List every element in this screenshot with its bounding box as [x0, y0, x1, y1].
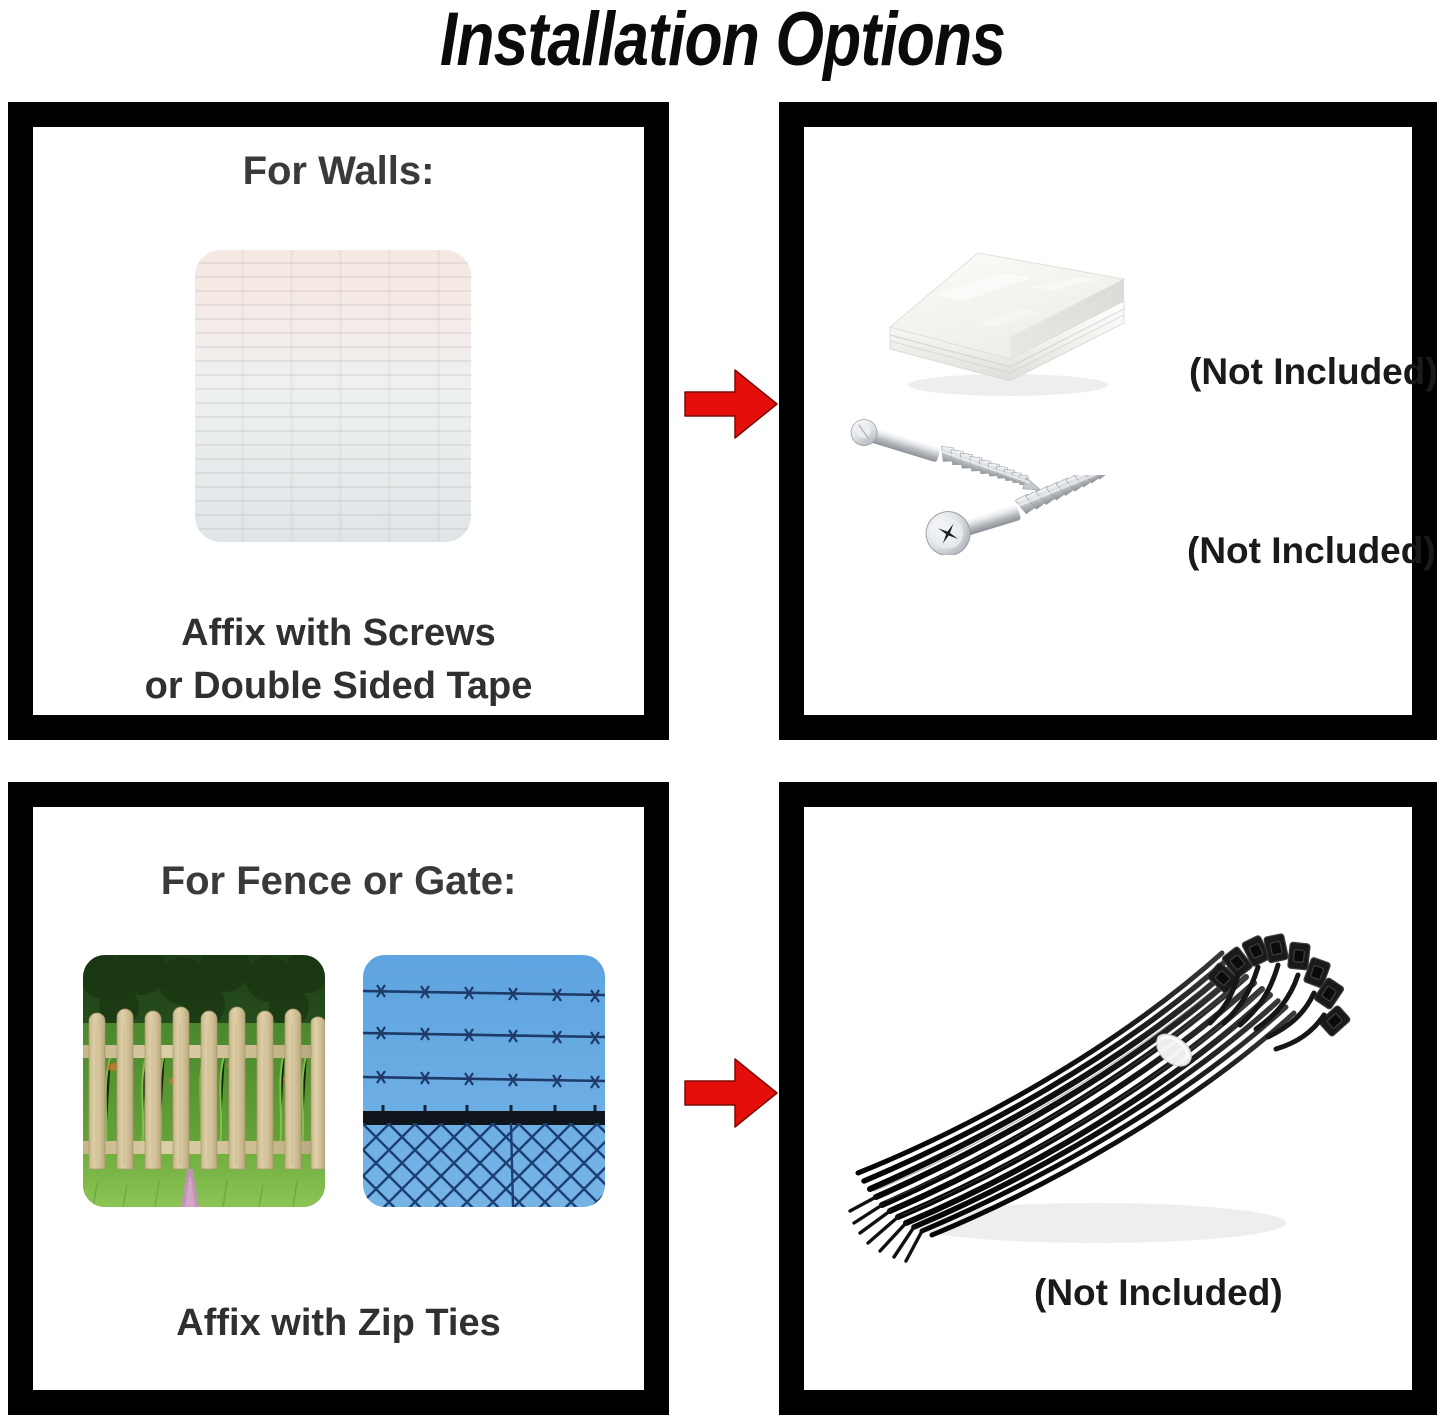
- wall-brick-joints: [195, 250, 471, 542]
- double-sided-tape-stack: [882, 235, 1132, 399]
- wood-screw-lower: [916, 475, 1132, 555]
- for-fence-or-gate-heading: For Fence or Gate:: [33, 859, 644, 904]
- walls-caption-line-1: Affix with Screws: [33, 612, 644, 655]
- red-arrow-right-icon: [683, 1057, 779, 1129]
- zipties-not-included-label: (Not Included): [1034, 1272, 1283, 1314]
- panel-for-fence-or-gate: For Fence or Gate:: [8, 782, 669, 1415]
- tape-not-included-label: (Not Included): [1189, 351, 1438, 393]
- walls-caption-line-2: or Double Sided Tape: [33, 665, 644, 708]
- chain-link-barbed-wire-fence-photo: [363, 955, 605, 1207]
- for-walls-heading: For Walls:: [33, 149, 644, 194]
- fence-caption: Affix with Zip Ties: [33, 1302, 644, 1345]
- red-arrow-right-icon: [683, 368, 779, 440]
- black-zip-ties-bundle: [846, 905, 1366, 1265]
- page-title: Installation Options: [130, 2, 1315, 78]
- wooden-picket-fence-photo: [83, 955, 325, 1207]
- panel-wall-hardware: (Not Included): [779, 102, 1437, 740]
- screws-not-included-label: (Not Included): [1187, 530, 1436, 572]
- panel-zip-ties: (Not Included): [779, 782, 1437, 1415]
- panel-for-walls: For Walls: Affix with Screws or Double S…: [8, 102, 669, 740]
- white-brick-wall-swatch: [195, 250, 471, 542]
